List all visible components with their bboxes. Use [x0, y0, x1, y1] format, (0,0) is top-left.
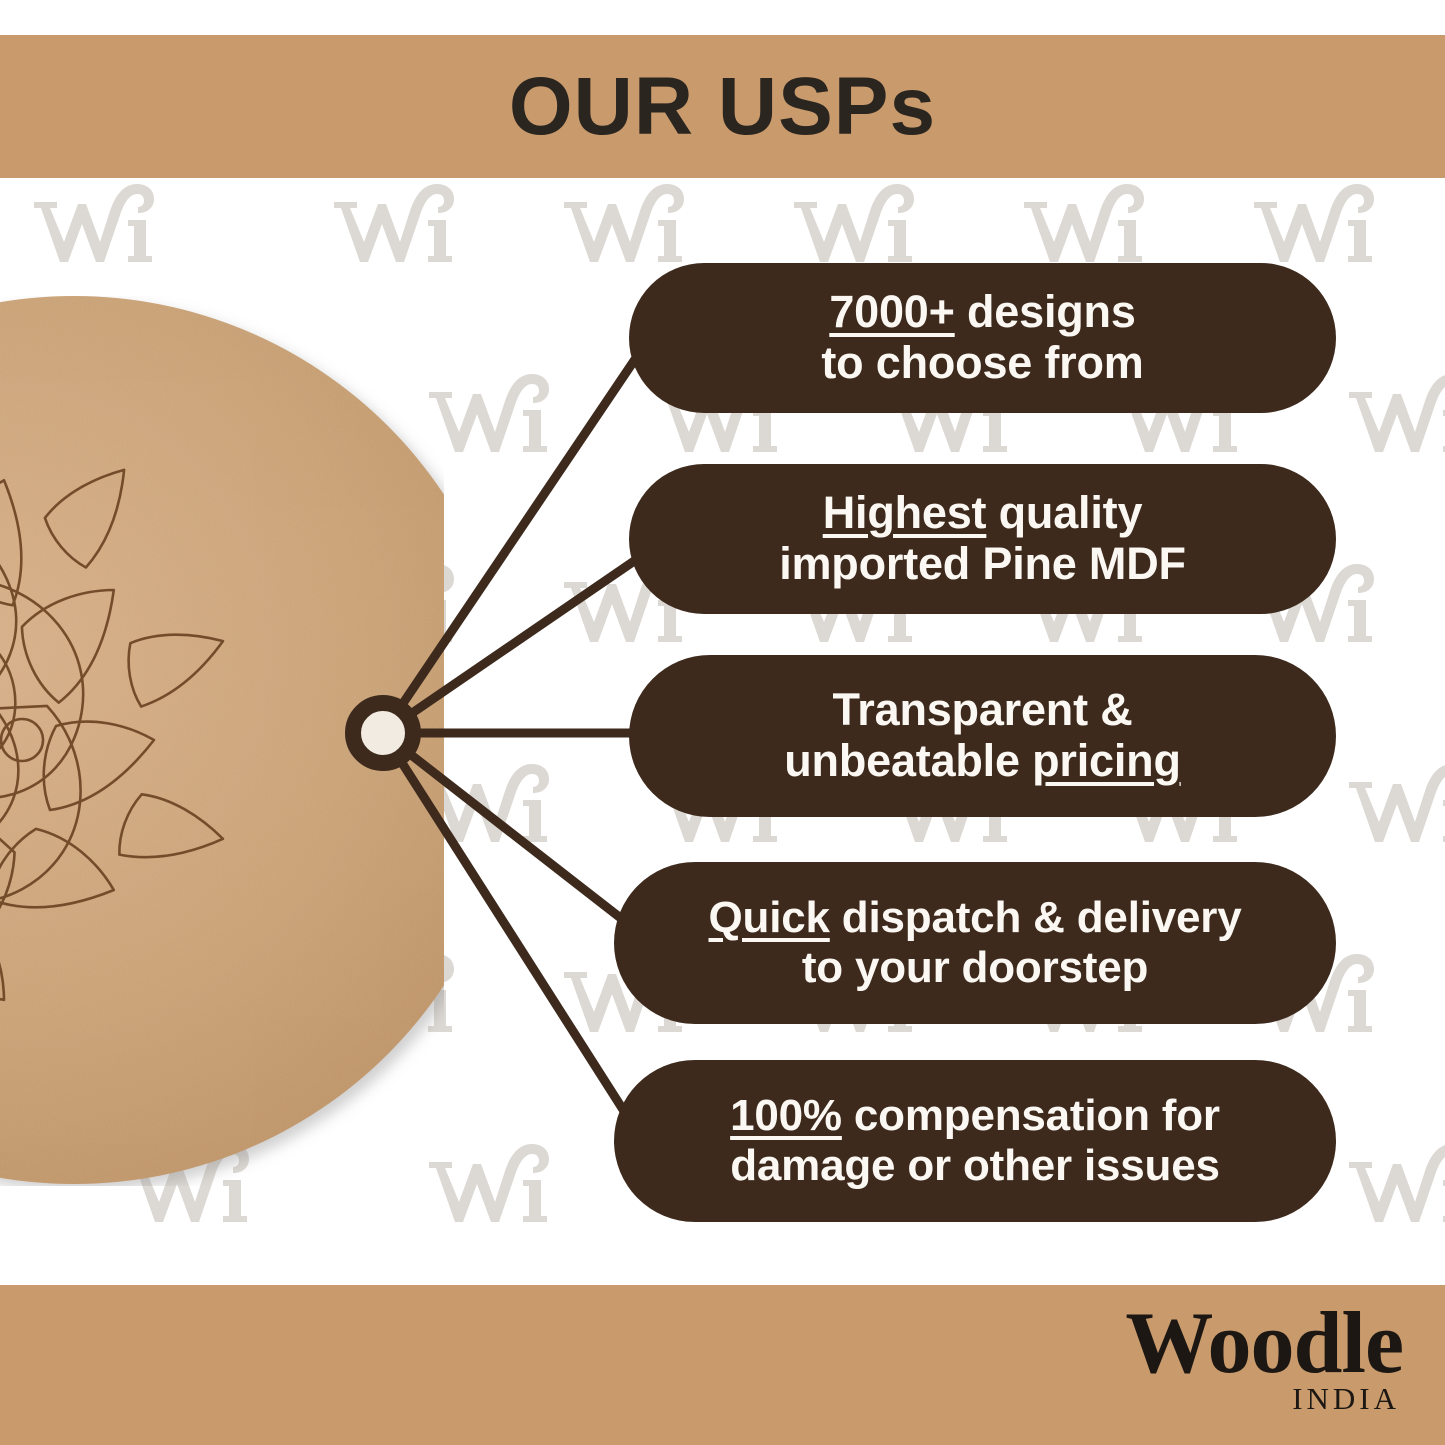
usp-line2-dispatch: to your doorstep: [802, 943, 1148, 992]
usp-card-quality[interactable]: Highest quality imported Pine MDF: [629, 464, 1336, 614]
usp-text-designs: 7000+ designs to choose from: [821, 287, 1143, 389]
usp-line1-pricing: Transparent &: [833, 684, 1133, 735]
usp-text-dispatch: Quick dispatch & delivery to your doorst…: [709, 893, 1242, 992]
header-banner: OUR USPs: [0, 35, 1445, 178]
usp-card-compensation[interactable]: 100% compensation for damage or other is…: [614, 1060, 1336, 1222]
brand-logo: Woodle INDIA: [1125, 1299, 1403, 1414]
usp-highlight-dispatch: Quick: [709, 893, 830, 942]
usp-rest-dispatch: dispatch & delivery: [830, 893, 1242, 942]
brand-name: Woodle: [1125, 1299, 1403, 1389]
usp-text-quality: Highest quality imported Pine MDF: [779, 488, 1186, 590]
footer-banner: Woodle INDIA: [0, 1285, 1445, 1445]
usp-rest-quality: quality: [986, 487, 1142, 538]
usp-text-compensation: 100% compensation for damage or other is…: [730, 1091, 1220, 1190]
usp-highlight-quality: Highest: [823, 487, 987, 538]
usp-line2-designs: to choose from: [821, 337, 1143, 388]
usp-highlight-pricing: pricing: [1032, 735, 1181, 786]
usp-line2-quality: imported Pine MDF: [779, 538, 1186, 589]
usp-line2-compensation: damage or other issues: [730, 1141, 1220, 1190]
usp-card-dispatch[interactable]: Quick dispatch & delivery to your doorst…: [614, 862, 1336, 1024]
usp-card-pricing[interactable]: Transparent & unbeatable pricing: [629, 655, 1336, 817]
usp-highlight-designs: 7000+: [829, 286, 954, 337]
usp-pre-pricing: unbeatable: [784, 735, 1032, 786]
usp-highlight-compensation: 100%: [730, 1091, 842, 1140]
usp-pill-group: 7000+ designs to choose from Highest qua…: [0, 0, 1445, 1445]
usp-rest-designs: designs: [955, 286, 1136, 337]
usp-card-designs[interactable]: 7000+ designs to choose from: [629, 263, 1336, 413]
usp-text-pricing: Transparent & unbeatable pricing: [784, 685, 1180, 787]
usp-rest-compensation: compensation for: [842, 1091, 1220, 1140]
infographic-canvas: 7000+ designs to choose from Highest qua…: [0, 0, 1445, 1445]
page-title: OUR USPs: [509, 66, 936, 148]
